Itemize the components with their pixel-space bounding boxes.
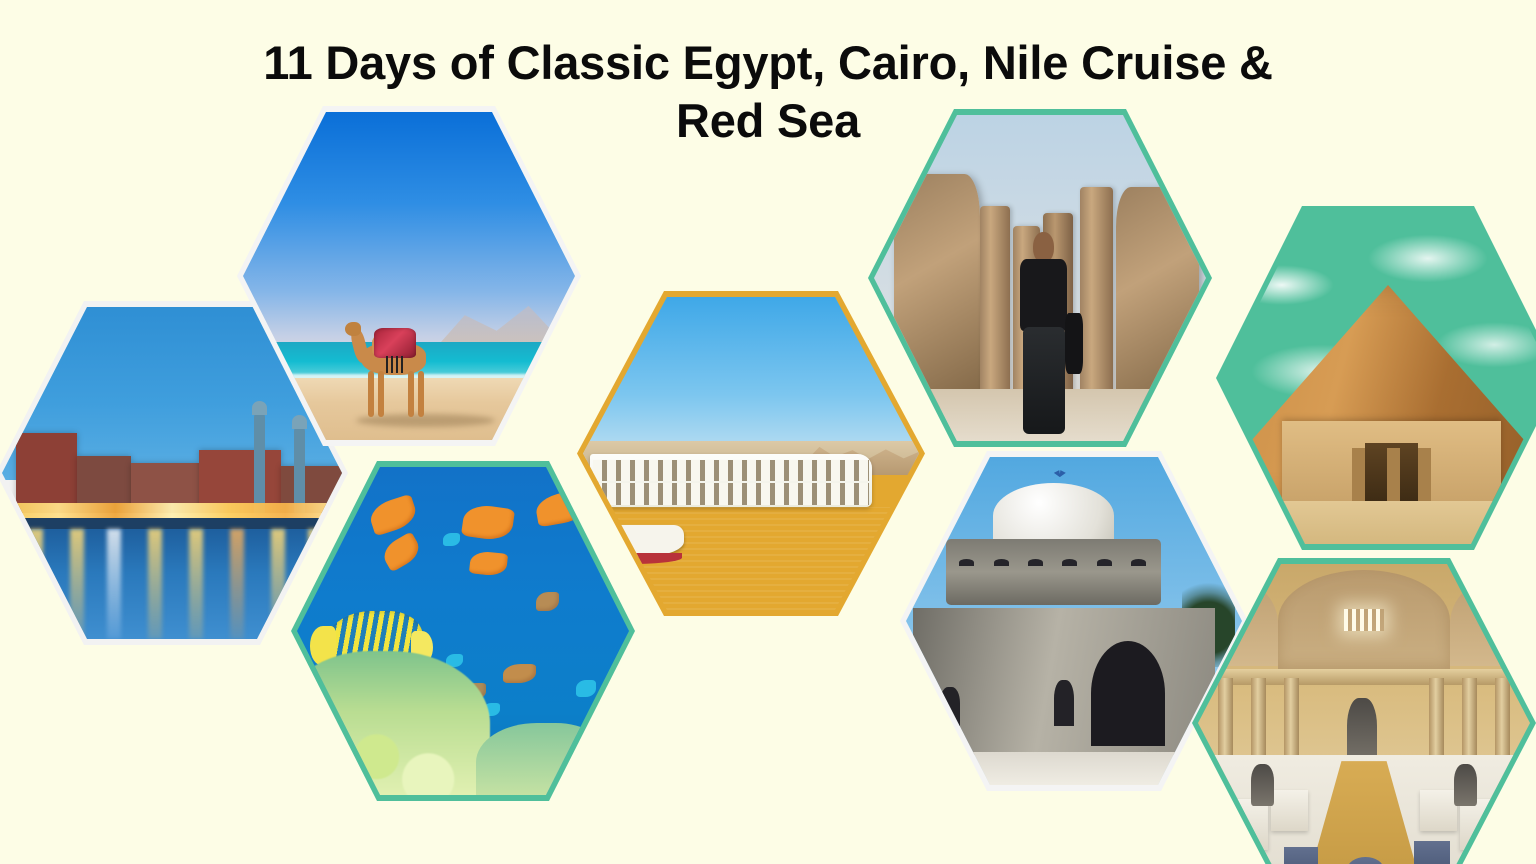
light-reflection	[271, 529, 285, 639]
light-reflection	[148, 529, 162, 639]
colossus-statue	[894, 174, 980, 409]
facade-window	[940, 687, 960, 726]
hex-image-frame	[583, 297, 919, 610]
saddle-tassels	[386, 356, 404, 374]
light-reflection	[29, 529, 43, 639]
camel-leg	[418, 371, 424, 416]
mortuary-temple	[1282, 421, 1501, 504]
arched-window	[1028, 559, 1043, 566]
coral-formation	[476, 723, 609, 795]
marina-building	[16, 433, 77, 513]
luxor-temple-photo	[874, 115, 1206, 441]
hex-image-frame	[874, 115, 1206, 441]
courtyard-ground	[906, 752, 1242, 785]
coral-formation	[297, 651, 490, 795]
camel-saddle	[374, 328, 416, 358]
skylight	[1344, 609, 1384, 631]
hex-tile-giza-pyramid[interactable]	[1216, 206, 1536, 550]
coral-reef-photo	[297, 467, 629, 795]
museum-interior-photo	[1198, 564, 1530, 864]
arched-window	[1097, 559, 1112, 566]
hex-image-frame	[1198, 564, 1530, 864]
facade-window	[1054, 680, 1074, 726]
camel	[343, 320, 443, 418]
person-traveller	[1007, 232, 1080, 434]
marina-quay	[2, 518, 342, 530]
statue	[1251, 764, 1274, 805]
pyramid-photo	[1222, 212, 1536, 544]
person-legs	[1023, 327, 1065, 434]
hex-image-frame	[1222, 212, 1536, 544]
display-case-blue	[1284, 847, 1317, 864]
hex-tile-egyptian-museum[interactable]	[1192, 558, 1536, 864]
arched-window	[1062, 559, 1077, 566]
arched-window	[994, 559, 1009, 566]
marina-minaret	[294, 427, 305, 513]
temple-column	[980, 206, 1010, 415]
small-boat	[596, 525, 683, 556]
hex-tile-cairo-mosque[interactable]	[900, 451, 1248, 791]
colossus-statue	[1116, 187, 1199, 409]
display-case	[1460, 799, 1503, 850]
camel-head	[345, 322, 361, 336]
person-torso	[1020, 259, 1067, 332]
page-title: 11 Days of Classic Egypt, Cairo, Nile Cr…	[0, 34, 1536, 151]
side-arch	[1450, 583, 1523, 666]
light-reflection	[189, 529, 203, 639]
light-reflection	[70, 529, 84, 639]
temple-pillar	[1352, 448, 1365, 504]
hex-image-frame	[906, 457, 1242, 785]
camel-leg	[408, 371, 414, 416]
nile-water	[583, 507, 919, 610]
page-title-line-2: Red Sea	[676, 94, 860, 147]
marina-minaret	[254, 413, 265, 513]
temple-pillar	[1418, 448, 1431, 504]
display-case	[1420, 790, 1457, 831]
display-case-blue	[1414, 841, 1451, 864]
palm-frond	[583, 347, 677, 472]
temple-pillar	[1387, 448, 1400, 504]
desert-sand	[1222, 501, 1536, 544]
hex-tile-luxor-temple[interactable]	[868, 109, 1212, 447]
dome-drum	[946, 539, 1161, 605]
cairo-mosque-photo	[906, 457, 1242, 785]
entrance-arch	[1091, 641, 1165, 746]
display-case	[1271, 790, 1308, 831]
nile-cruise-photo	[583, 297, 919, 610]
small-blue-fish	[576, 680, 596, 696]
camel-leg	[368, 371, 374, 416]
light-reflection	[230, 529, 244, 639]
small-blue-fish	[443, 533, 460, 546]
hex-image-frame	[297, 467, 629, 795]
arched-window	[1131, 559, 1146, 566]
marina-water	[2, 529, 342, 639]
ship-deck	[593, 483, 870, 504]
person-bag	[1065, 313, 1083, 374]
hex-tile-nile-cruise[interactable]	[577, 291, 925, 616]
light-reflection	[107, 529, 121, 639]
display-case	[1225, 799, 1268, 850]
page-title-line-1: 11 Days of Classic Egypt, Cairo, Nile Cr…	[263, 36, 1273, 89]
temple-column	[1080, 187, 1113, 415]
arched-window	[959, 559, 974, 566]
hex-tile-coral-reef[interactable]	[291, 461, 635, 801]
camel-leg	[378, 371, 384, 416]
statue	[1454, 764, 1477, 805]
